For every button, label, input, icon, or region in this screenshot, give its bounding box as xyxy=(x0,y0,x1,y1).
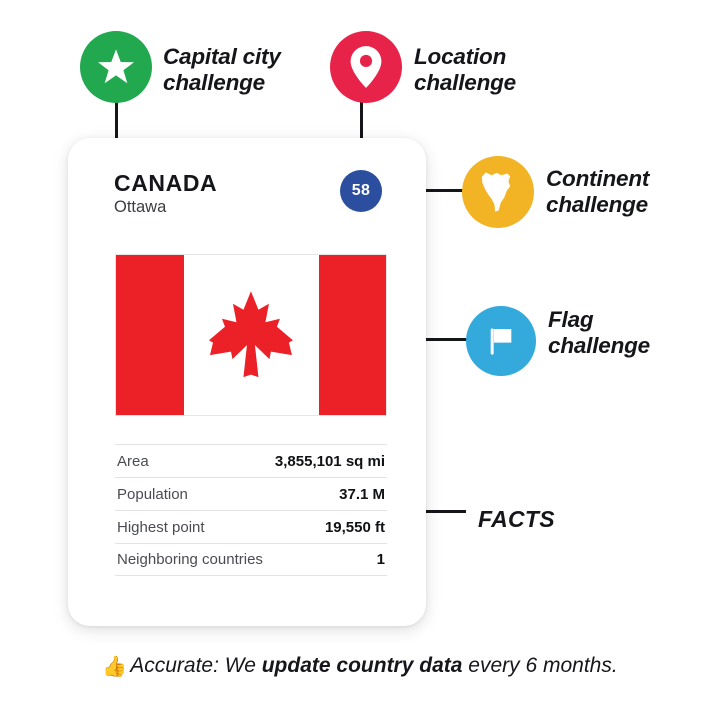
flag-center-field xyxy=(184,255,319,415)
caption-text-bold: update country data xyxy=(262,654,463,677)
country-name: CANADA xyxy=(114,170,217,197)
location-challenge-label: Location challenge xyxy=(414,44,564,97)
star-icon xyxy=(96,47,136,87)
capital-name: Ottawa xyxy=(114,198,166,217)
canada-flag-image xyxy=(115,254,387,416)
map-pin-icon xyxy=(349,45,383,89)
continent-challenge-icon[interactable] xyxy=(462,156,534,228)
capital-city-challenge-icon[interactable] xyxy=(80,31,152,103)
capital-city-challenge-label: Capital city challenge xyxy=(163,44,323,97)
callout-line-1: Flag xyxy=(548,307,708,333)
facts-label: FACTS xyxy=(478,506,555,533)
table-row: Population 37.1 M xyxy=(115,477,387,510)
callout-line-1: Continent xyxy=(546,166,716,192)
flag-icon xyxy=(482,322,520,360)
table-row: Highest point 19,550 ft xyxy=(115,510,387,543)
flag-challenge-icon[interactable] xyxy=(466,306,536,376)
table-row: Area 3,855,101 sq mi xyxy=(115,444,387,477)
fact-value: 1 xyxy=(377,551,385,568)
callout-line-1: Capital city xyxy=(163,44,323,70)
fact-label: Neighboring countries xyxy=(117,551,263,568)
footer-caption: 👍Accurate: We update country data every … xyxy=(0,654,720,679)
country-card[interactable]: CANADA Ottawa Area 3,855,101 sq mi Popul… xyxy=(68,138,426,626)
facts-table: Area 3,855,101 sq mi Population 37.1 M H… xyxy=(115,444,387,576)
callout-line-1: Location xyxy=(414,44,564,70)
flag-left-band xyxy=(116,255,184,415)
callout-line-2: challenge xyxy=(548,333,708,359)
fact-label: Population xyxy=(117,486,188,503)
flag-right-band xyxy=(319,255,387,415)
callout-line-2: challenge xyxy=(546,192,716,218)
location-challenge-icon[interactable] xyxy=(330,31,402,103)
caption-text-before: Accurate: We xyxy=(130,654,262,677)
fact-value: 37.1 M xyxy=(339,486,385,503)
caption-text-after: every 6 months. xyxy=(462,654,617,677)
table-row: Neighboring countries 1 xyxy=(115,543,387,576)
callout-line-2: challenge xyxy=(163,70,323,96)
map-number-badge[interactable]: 58 xyxy=(340,170,382,212)
thumbs-up-icon: 👍 xyxy=(102,656,127,678)
callout-line-2: challenge xyxy=(414,70,564,96)
fact-value: 19,550 ft xyxy=(325,519,385,536)
fact-value: 3,855,101 sq mi xyxy=(275,453,385,470)
maple-leaf-icon xyxy=(201,276,301,394)
fact-label: Area xyxy=(117,453,149,470)
fact-label: Highest point xyxy=(117,519,205,536)
infographic-canvas: CANADA Ottawa Area 3,855,101 sq mi Popul… xyxy=(0,0,720,720)
continent-challenge-label: Continent challenge xyxy=(546,166,716,219)
flag-challenge-label: Flag challenge xyxy=(548,307,708,360)
africa-continent-icon xyxy=(477,170,519,214)
